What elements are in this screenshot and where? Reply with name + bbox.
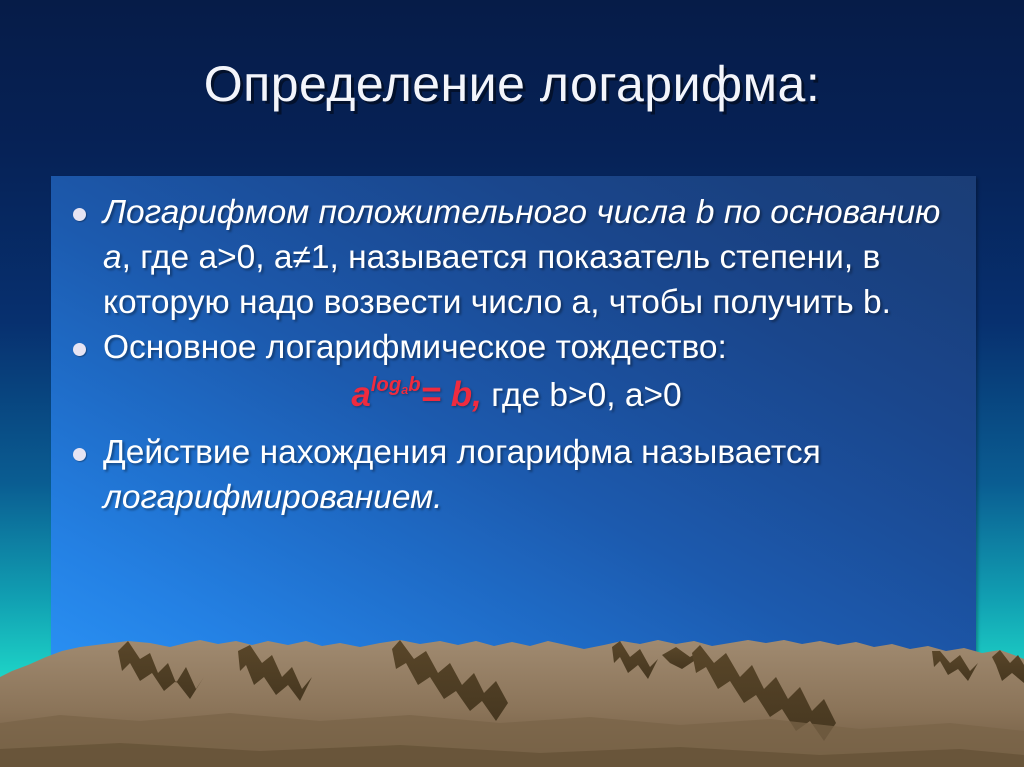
bullet-list: Логарифмом положительного числа b по осн… xyxy=(69,190,952,520)
bullet-dot-icon xyxy=(73,208,86,221)
slide-canvas: Определение логарифма: Логарифмом положи… xyxy=(0,0,1024,767)
formula-row: alogab= b, где b>0, a>0 xyxy=(69,372,952,418)
bullet-dot-icon xyxy=(73,343,86,356)
logarithm-identity-formula: alogab= b, где b>0, a>0 xyxy=(69,372,952,418)
bullet-identity-text: Основное логарифмическое тождество: xyxy=(103,325,952,370)
bullet-operation-text: Действие нахождения логарифма называется… xyxy=(103,430,952,520)
list-item: Логарифмом положительного числа b по осн… xyxy=(69,190,952,325)
bullet-definition-normal-part: , где a>0, a≠1, называется показатель ст… xyxy=(103,239,891,321)
bullet-operation-normal-part: Действие нахождения логарифма называется xyxy=(103,434,821,471)
bullet-definition-text: Логарифмом положительного числа b по осн… xyxy=(103,190,952,325)
formula-condition: где b>0, a>0 xyxy=(491,377,681,414)
formula-base: a xyxy=(351,375,370,414)
formula-log: log xyxy=(371,374,401,396)
formula-log-arg: b xyxy=(408,374,420,396)
formula-exponent: logab xyxy=(371,374,421,396)
list-item: Действие нахождения логарифма называется… xyxy=(69,430,952,520)
list-item: Основное логарифмическое тождество: xyxy=(69,325,952,370)
bullet-dot-icon xyxy=(73,448,86,461)
formula-expression: alogab= b, xyxy=(351,375,482,414)
formula-equals: = b, xyxy=(421,375,482,414)
bullet-operation-italic-part: логарифмированием. xyxy=(103,479,442,516)
content-panel: Логарифмом положительного числа b по осн… xyxy=(51,176,976,682)
mountain-range-graphic xyxy=(0,637,1024,767)
slide-title: Определение логарифма: xyxy=(0,55,1024,113)
spacer xyxy=(69,418,952,430)
